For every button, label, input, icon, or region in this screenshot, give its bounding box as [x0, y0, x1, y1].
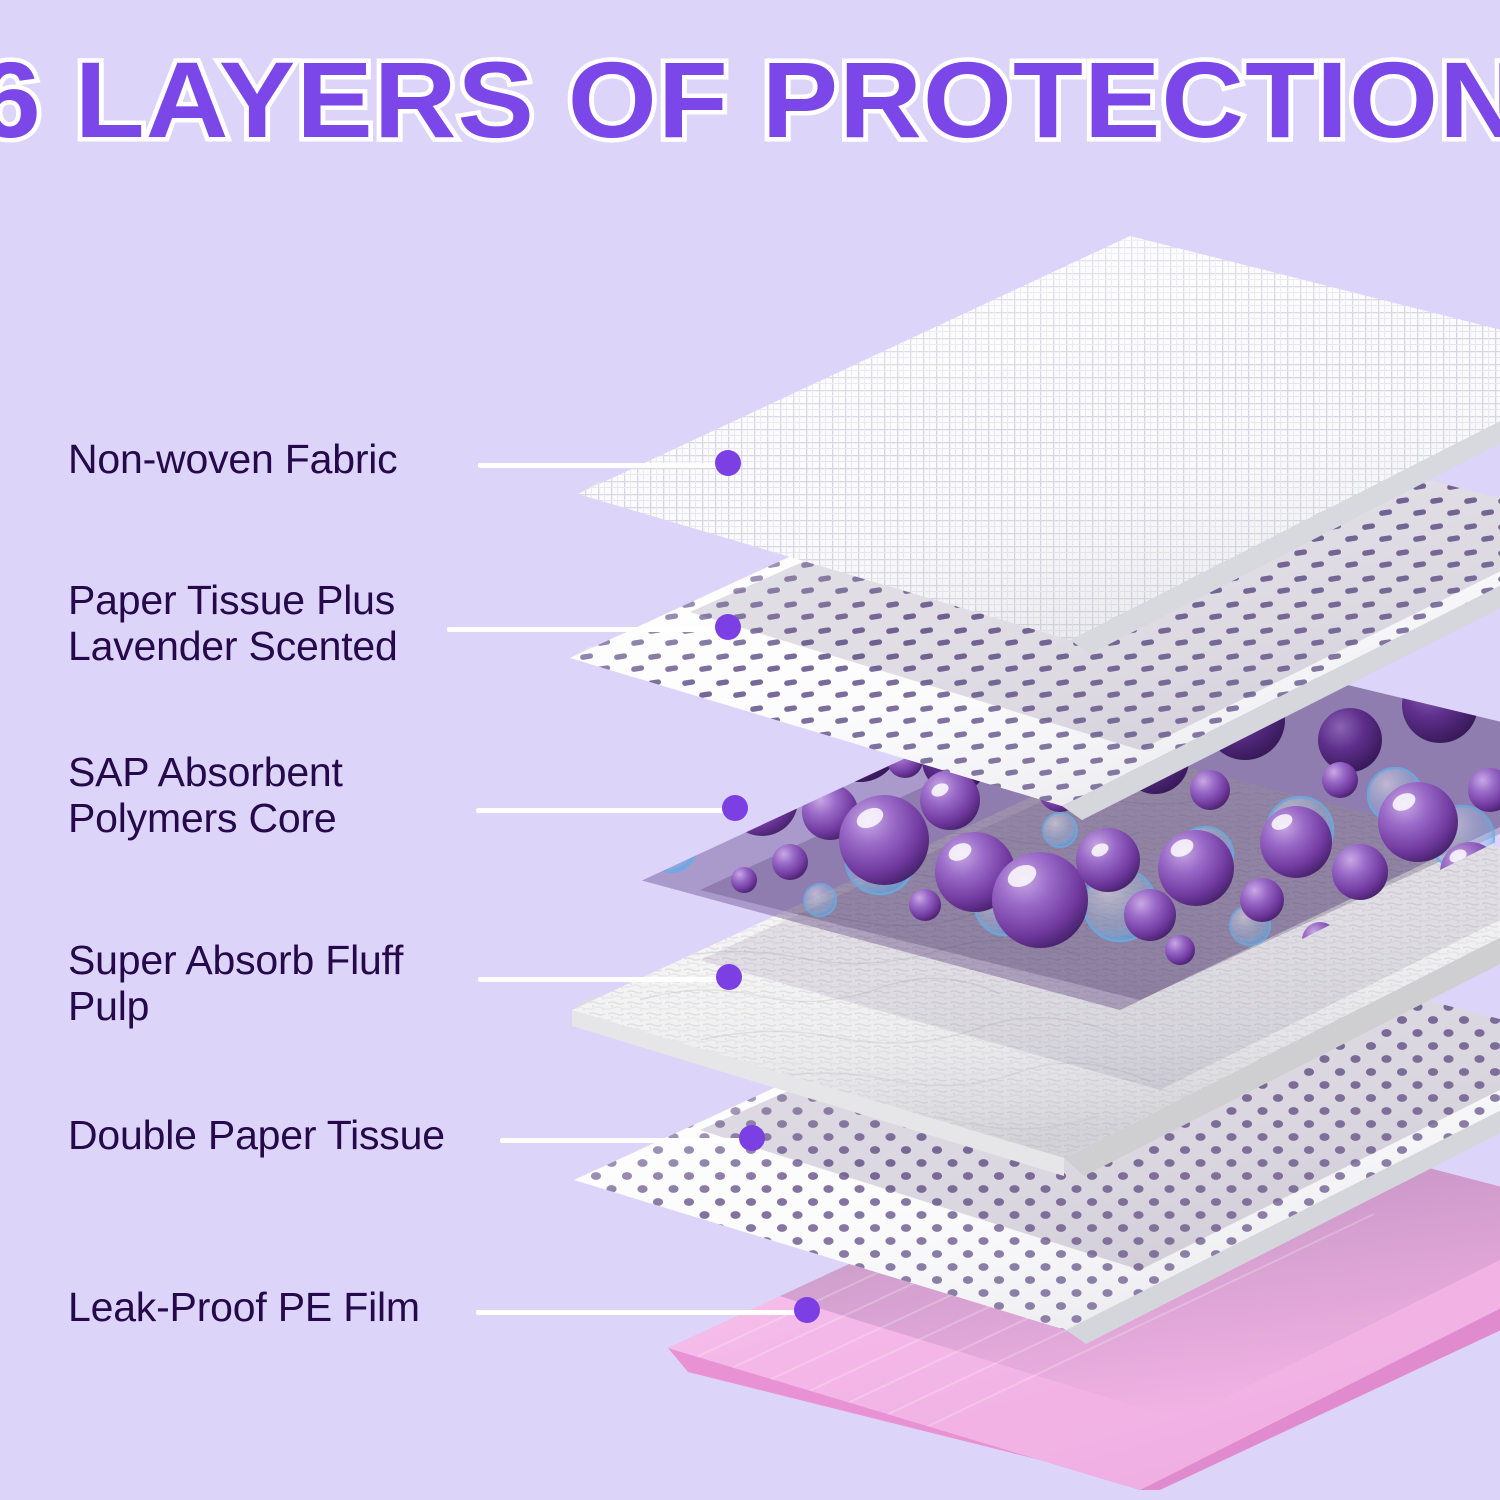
leader-dot-3: [722, 795, 748, 821]
infographic-canvas: 6 LAYERS OF PROTECTION: [0, 0, 1500, 1500]
leader-dot-5: [739, 1125, 765, 1151]
leader-dot-2: [715, 614, 741, 640]
leader-line-6: [476, 1310, 802, 1315]
leader-line-2: [447, 627, 727, 632]
layer-label-pe-film: Leak-Proof PE Film: [68, 1285, 420, 1331]
leader-line-5: [500, 1138, 745, 1143]
layer-label-sap-core: SAP Absorbent Polymers Core: [68, 750, 343, 842]
leader-line-3: [476, 808, 728, 813]
leader-line-1: [478, 463, 728, 468]
layer-label-double-paper-tissue: Double Paper Tissue: [68, 1113, 445, 1159]
layer-label-paper-tissue-lavender: Paper Tissue Plus Lavender Scented: [68, 578, 398, 670]
layer-label-fluff-pulp: Super Absorb Fluff Pulp: [68, 938, 403, 1030]
layer-label-non-woven-fabric: Non-woven Fabric: [68, 437, 398, 483]
leader-line-4: [478, 977, 721, 982]
leader-dot-4: [716, 964, 742, 990]
leader-dot-6: [794, 1297, 820, 1323]
leader-dot-1: [715, 450, 741, 476]
